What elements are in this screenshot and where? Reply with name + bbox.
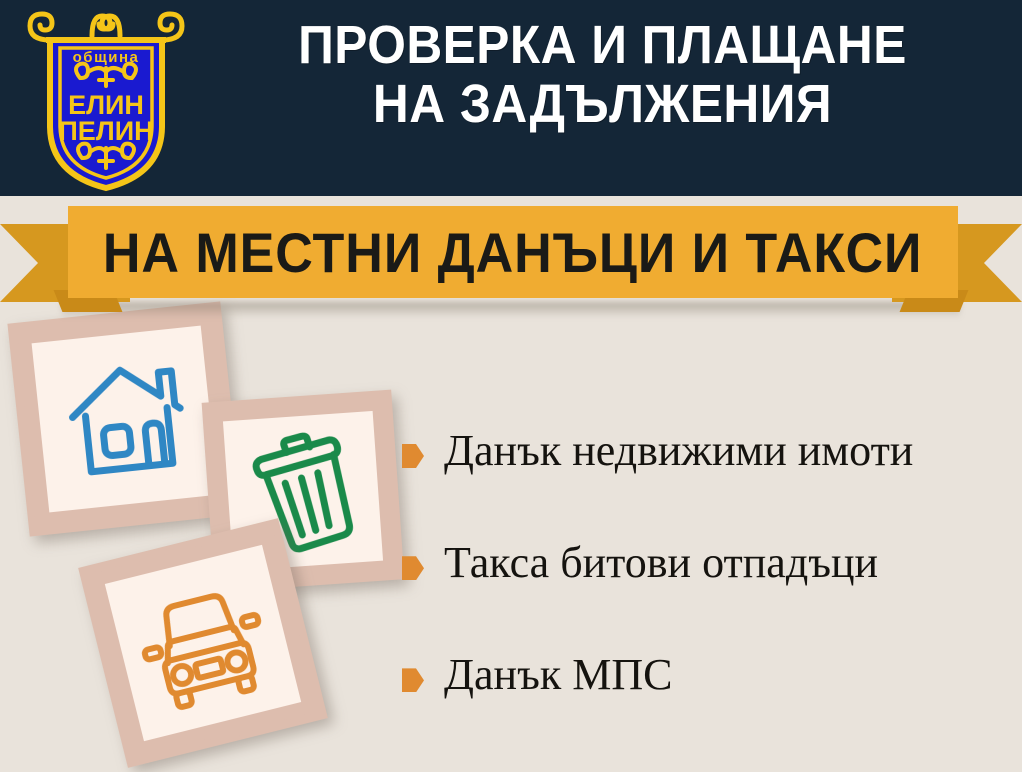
poster-title-line-1: ПРОВЕРКА И ПЛАЩАНЕ bbox=[228, 16, 978, 75]
bullet-arrow-icon bbox=[402, 668, 424, 692]
list-item[interactable]: Такса битови отпадъци bbox=[402, 540, 1017, 586]
tax-type-list: Данък недвижими имоти Такса битови отпад… bbox=[402, 428, 1017, 765]
coat-of-arms-svg: община ЕЛИН ПЕЛИН bbox=[20, 6, 192, 192]
poster-title-line-2: НА ЗАДЪЛЖЕНИЯ bbox=[228, 75, 978, 134]
bullet-arrow-icon bbox=[402, 444, 424, 468]
list-item[interactable]: Данък недвижими имоти bbox=[402, 428, 1017, 474]
list-item-label: Данък недвижими имоти bbox=[444, 428, 913, 474]
ribbon-main-panel: НА МЕСТНИ ДАНЪЦИ И ТАКСИ bbox=[68, 206, 958, 298]
list-item-label: Данък МПС bbox=[444, 652, 672, 698]
header-bar: община ЕЛИН ПЕЛИН bbox=[0, 0, 1022, 196]
ribbon-shadow bbox=[62, 302, 960, 318]
poster-title: ПРОВЕРКА И ПЛАЩАНЕ НА ЗАДЪЛЖЕНИЯ bbox=[228, 16, 978, 135]
poster-root: община ЕЛИН ПЕЛИН bbox=[0, 0, 1022, 772]
list-item[interactable]: Данък МПС bbox=[402, 652, 1017, 698]
ribbon-text: НА МЕСТНИ ДАНЪЦИ И ТАКСИ bbox=[103, 220, 923, 285]
list-item-label: Такса битови отпадъци bbox=[444, 540, 878, 586]
ribbon-banner: НА МЕСТНИ ДАНЪЦИ И ТАКСИ bbox=[0, 198, 1022, 310]
crest-text-pelin: ПЕЛИН bbox=[58, 116, 153, 146]
coat-of-arms: община ЕЛИН ПЕЛИН bbox=[20, 6, 192, 192]
bullet-arrow-icon bbox=[402, 556, 424, 580]
